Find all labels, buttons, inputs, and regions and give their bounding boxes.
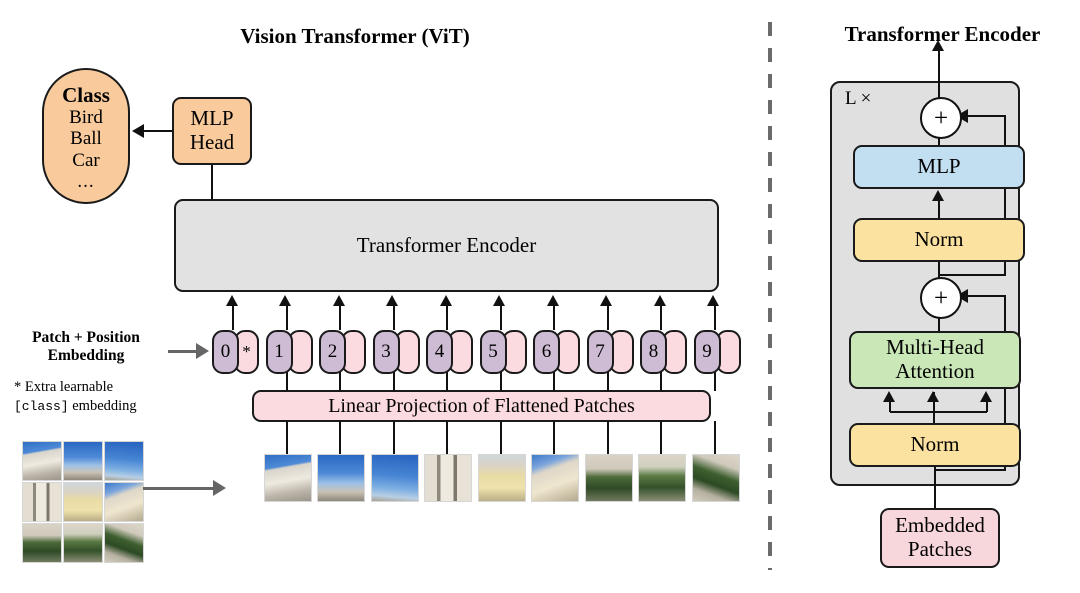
token-arrow-head-4 [440,295,452,306]
token-arrow-head-5 [493,295,505,306]
linproj-bottom-connector-6 [553,421,555,454]
source-patch-r1-c1 [63,482,103,522]
source-patch-r0-c0 [22,441,62,481]
encoder-repeat-label: L × [845,88,871,110]
panel-divider [768,22,772,570]
linproj-top-connector-8 [660,370,662,391]
token-1: 1 [266,330,313,374]
residual-mid-horizontal-bottom [936,469,1006,471]
token-6: 6 [533,330,580,374]
page-title-vit: Vision Transformer (ViT) [175,24,535,49]
multi-head-attention-block: Multi-Head Attention [849,331,1021,389]
qkv-arrow-k [927,391,939,402]
token-5: 5 [480,330,527,374]
norm-top-block: Norm [853,218,1025,262]
arrow-label-to-tokens-head [196,343,209,359]
source-patch-r0-c2 [104,441,144,481]
token-2: 2 [319,330,366,374]
footnote-code: [class] [14,399,69,414]
connector-normtop-to-mlp-line [938,198,940,218]
flattened-patch-6 [585,454,633,502]
arrow-grid-to-patches-line [143,487,215,490]
flattened-patch-2 [371,454,419,502]
token-number-badge-4: 4 [426,330,453,374]
transformer-encoder-box: Transformer Encoder [174,199,719,292]
token-9: 9 [694,330,741,374]
patch-position-embedding-label: Patch + Position Embedding [6,329,166,366]
source-patch-r2-c0 [22,523,62,563]
flattened-patch-0 [264,454,312,502]
footnote-marker: * [14,379,21,395]
pp-label-line1: Patch + Position [6,329,166,347]
mlp-head-line2: Head [190,131,234,155]
transformer-encoder-label: Transformer Encoder [357,234,536,258]
class-item-car: Car [72,150,99,171]
flattened-patch-8 [692,454,740,502]
token-arrow-line-2 [339,304,341,330]
class-pill-header: Class [62,84,110,108]
residual-add-top: + [920,97,962,139]
token-number-badge-6: 6 [533,330,560,374]
residual-top-horizontal-bottom [939,274,1006,276]
linproj-bottom-connector-5 [500,421,502,454]
token-0: 0* [212,330,259,374]
connector-normtop-to-mlp-arrow [932,190,944,201]
footnote-line1: Extra learnable [25,379,113,395]
linear-projection-bar: Linear Projection of Flattened Patches [252,390,711,422]
linproj-bottom-connector-3 [393,421,395,454]
embedded-patches-line2: Patches [895,538,985,562]
token-arrow-head-6 [547,295,559,306]
token-arrow-head-0 [226,295,238,306]
mlp-head-box: MLP Head [172,97,252,165]
token-arrow-head-1 [279,295,291,306]
flattened-patch-7 [638,454,686,502]
token-arrow-line-4 [446,304,448,330]
class-item-ball: Ball [70,128,102,149]
class-pill-ellipsis: ... [77,171,94,188]
class-output-pill: Class Bird Ball Car ... [42,68,130,204]
linproj-bottom-connector-2 [339,421,341,454]
qkv-arrow-q [883,391,895,402]
token-number-badge-3: 3 [373,330,400,374]
token-number-badge-9: 9 [694,330,721,374]
token-number-badge-8: 8 [640,330,667,374]
arrow-label-to-tokens-line [168,350,198,353]
linproj-bottom-connector-8 [660,421,662,454]
arrow-grid-to-patches-head [213,480,226,496]
linproj-bottom-connector-1 [286,421,288,454]
token-arrow-head-2 [333,295,345,306]
residual-top-horizontal-top [968,115,1006,117]
norm-bottom-block: Norm [849,423,1021,467]
flattened-patch-3 [424,454,472,502]
token-8: 8 [640,330,687,374]
token-arrow-head-3 [386,295,398,306]
token-arrow-line-0 [232,304,234,330]
token-arrow-line-9 [714,304,716,330]
encoder-output-arrowhead [932,40,944,51]
linproj-bottom-connector-9 [714,421,716,454]
embedded-patches-block: Embedded Patches [880,508,1000,568]
class-item-bird: Bird [69,107,103,128]
token-arrow-head-9 [707,295,719,306]
mlp-block: MLP [853,145,1025,189]
pp-label-line2: Embedding [6,347,166,365]
arrow-mlphead-to-class-head [132,124,144,138]
source-patch-r1-c0 [22,482,62,522]
mha-line2: Attention [886,360,984,384]
residual-add-mid: + [920,277,962,319]
qkv-bus [890,411,987,413]
flattened-patch-5 [531,454,579,502]
source-patch-r2-c1 [63,523,103,563]
connector-embedded-to-normbottom [934,466,936,509]
token-number-badge-0: 0 [212,330,239,374]
token-7: 7 [587,330,634,374]
embedded-patches-line1: Embedded [895,514,985,538]
class-embedding-footnote: * Extra learnable [class] embedding [14,378,179,416]
flattened-patch-4 [478,454,526,502]
token-3: 3 [373,330,420,374]
mlp-block-label: MLP [917,155,960,179]
mha-line1: Multi-Head [886,336,984,360]
source-patch-r2-c2 [104,523,144,563]
linproj-top-connector-6 [553,370,555,391]
token-arrow-head-8 [654,295,666,306]
linproj-bottom-connector-7 [607,421,609,454]
connector-mlphead-to-encoder [211,165,213,201]
linproj-bottom-connector-4 [446,421,448,454]
token-arrow-line-1 [286,304,288,330]
arrow-mlphead-to-class-line [144,130,174,132]
token-number-badge-2: 2 [319,330,346,374]
token-arrow-line-5 [500,304,502,330]
token-arrow-line-7 [607,304,609,330]
token-arrow-line-8 [660,304,662,330]
linproj-top-connector-2 [339,370,341,391]
token-arrow-head-7 [600,295,612,306]
token-arrow-line-6 [553,304,555,330]
flattened-patch-1 [317,454,365,502]
token-arrow-line-3 [393,304,395,330]
source-patch-r1-c2 [104,482,144,522]
linproj-top-connector-4 [446,370,448,391]
token-number-badge-1: 1 [266,330,293,374]
token-4: 4 [426,330,473,374]
residual-mid-horizontal-top [968,295,1006,297]
plus-symbol-top: + [934,106,948,131]
mlp-head-line1: MLP [190,107,234,131]
norm-top-label: Norm [915,228,964,252]
plus-symbol-mid: + [934,286,948,311]
source-patch-r0-c1 [63,441,103,481]
norm-bottom-label: Norm [911,433,960,457]
qkv-arrow-v [980,391,992,402]
linear-projection-label: Linear Projection of Flattened Patches [328,395,635,417]
footnote-line2-tail: embedding [69,398,137,414]
token-number-badge-5: 5 [480,330,507,374]
token-number-badge-7: 7 [587,330,614,374]
